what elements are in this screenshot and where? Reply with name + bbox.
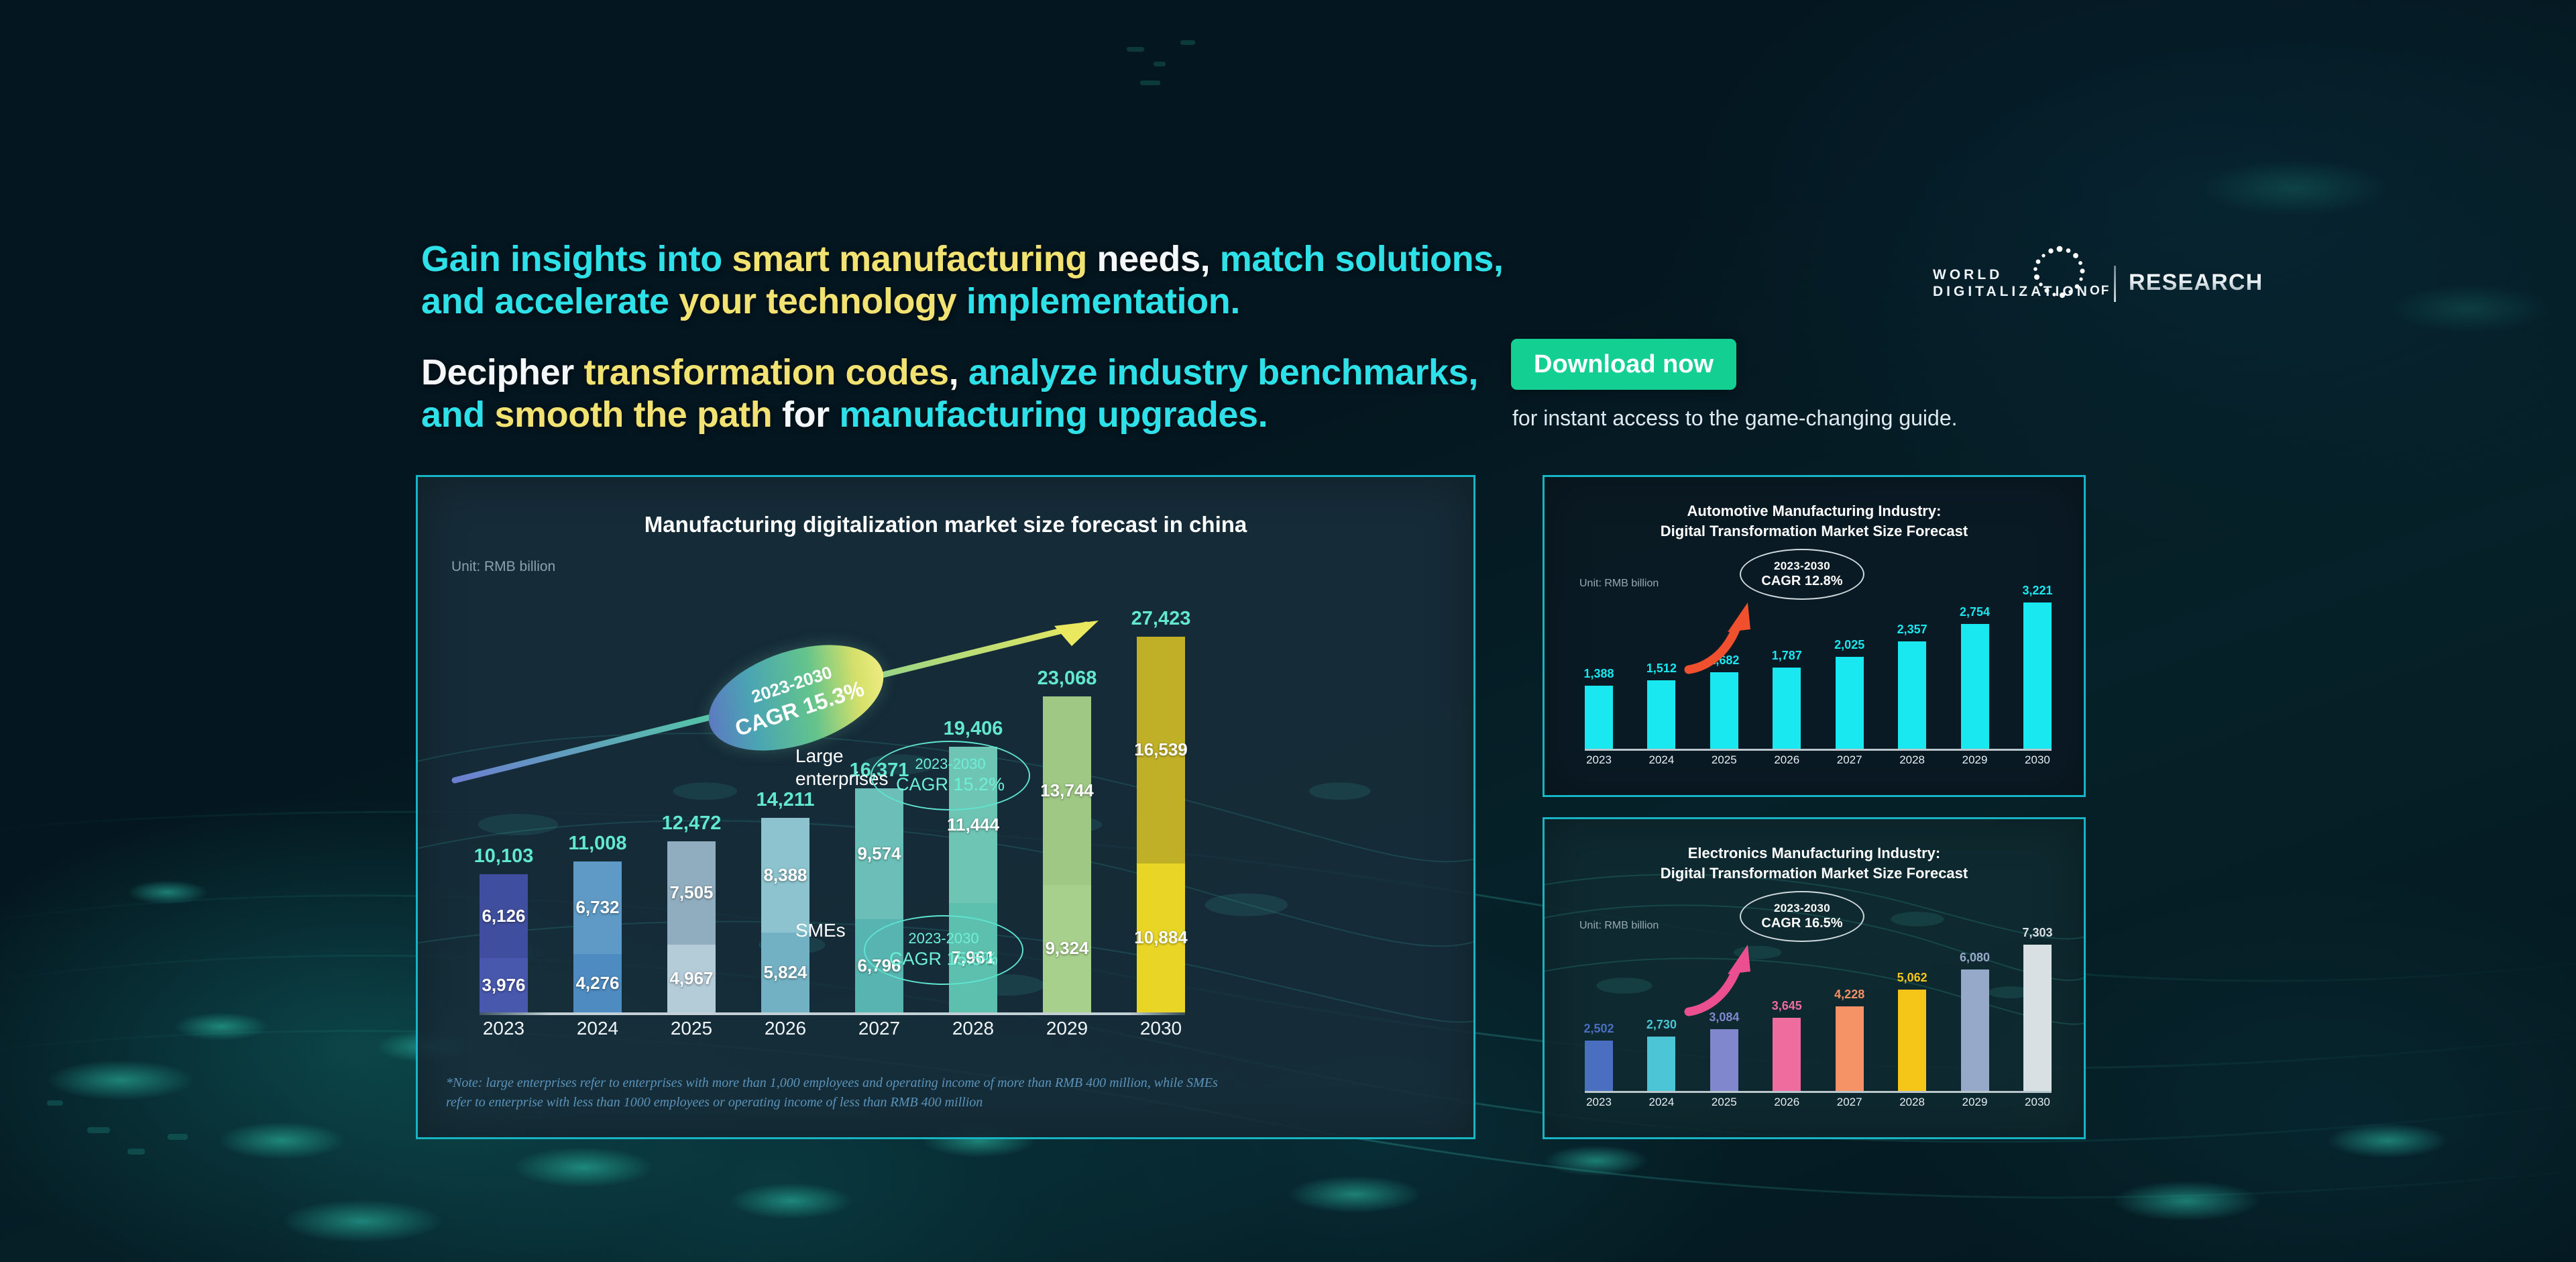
x-axis-label: 2023 [1585, 1096, 1613, 1120]
electronics-cagr-period: 2023-2030 [1774, 901, 1830, 915]
bar-column: 1,388 [1585, 686, 1613, 749]
headline-run: analyze industry benchmarks, [968, 352, 1478, 392]
cagr-pill-smes: 2023-2030 CAGR 15.5% [864, 915, 1023, 985]
bar-segment-large-enterprises: 9,574 [855, 788, 903, 920]
bar [1961, 969, 1989, 1091]
bar-group: 23,06813,7449,324 [1043, 696, 1091, 1012]
headline-run: smart manufacturing [732, 239, 1087, 279]
bar-segment-smes: 9,324 [1043, 885, 1091, 1012]
legend-smes: SMEs [795, 919, 846, 942]
x-axis-label: 2029 [1961, 753, 1989, 778]
main-chart-title: Manufacturing digitalization market size… [418, 512, 1473, 537]
automotive-cagr-period: 2023-2030 [1774, 559, 1830, 573]
bar [1710, 672, 1738, 749]
logo-wordmark: WORLD DIGITALIZATION [1933, 267, 2090, 301]
logo-word-research: RESEARCH [2129, 270, 2263, 296]
bar-group: 11,0086,7324,276 [573, 861, 622, 1012]
bar [1647, 680, 1675, 749]
bar-segment-label: 4,276 [575, 973, 619, 994]
electronics-plot: 2,5022,7303,0843,6454,2285,0626,0807,303… [1578, 927, 2054, 1121]
bar-segment-smes: 4,967 [667, 945, 716, 1012]
cagr-pill-large-enterprises: 2023-2030 CAGR 15.2% [871, 741, 1030, 810]
x-axis-label: 2028 [1898, 753, 1926, 778]
x-axis-label: 2030 [2023, 753, 2052, 778]
bar-segment-large-enterprises: 8,388 [761, 818, 809, 933]
pill-large-period: 2023-2030 [915, 755, 985, 774]
logo-word-world: WORLD [1933, 267, 2090, 284]
x-axis-label: 2027 [1836, 1096, 1864, 1120]
x-axis-label: 2023 [480, 1018, 528, 1047]
headline-run: manufacturing upgrades. [839, 395, 1268, 435]
bar-total-label: 10,103 [474, 845, 534, 867]
headline-run: transformation codes [584, 352, 949, 392]
headline-block: Gain insights into smart manufacturing n… [421, 238, 1521, 436]
bar [2023, 945, 2052, 1091]
bar-segment-label: 16,539 [1134, 739, 1188, 760]
bar-segment-label: 7,505 [669, 882, 713, 903]
bar-total-label: 19,406 [944, 718, 1003, 740]
electronics-title-line1: Electronics Manufacturing Industry: [1545, 843, 2084, 863]
pill-large-value: CAGR 15.2% [896, 774, 1005, 796]
bar-segment-large-enterprises: 7,505 [667, 841, 716, 944]
bar [1898, 641, 1926, 749]
electronics-x-axis [1585, 1091, 2052, 1093]
headline-run: for [772, 395, 839, 435]
x-axis-label: 2026 [1773, 1096, 1801, 1120]
bar-group: 27,42316,53910,884 [1137, 637, 1185, 1012]
bar-segment-large-enterprises: 6,732 [573, 861, 622, 953]
bar-group: 10,1036,1263,976 [480, 874, 528, 1012]
electronics-bar-group: 2,5022,7303,0843,6454,2285,0626,0807,303 [1585, 945, 2052, 1091]
headline-run: and accelerate [421, 281, 679, 321]
x-axis-label: 2024 [1647, 1096, 1675, 1120]
bar-column: 6,080 [1961, 969, 1989, 1091]
bar-group: 14,2118,3885,824 [761, 818, 809, 1012]
download-now-button[interactable]: Download now [1511, 339, 1736, 390]
automotive-cagr-pill: 2023-2030 CAGR 12.8% [1740, 549, 1864, 600]
bar [1710, 1029, 1738, 1091]
bar-column: 1,787 [1773, 668, 1801, 749]
bar-segment-label: 6,732 [575, 897, 619, 918]
bar-value-label: 1,388 [1583, 667, 1614, 681]
headline-run: implementation. [956, 281, 1240, 321]
headline-run: your technology [679, 281, 956, 321]
bar-total-label: 23,068 [1038, 668, 1097, 690]
bar [1836, 1006, 1864, 1091]
automotive-cagr-value: CAGR 12.8% [1761, 573, 1842, 590]
bar-segment-label: 9,574 [857, 843, 901, 864]
bar-total-label: 11,008 [568, 833, 626, 855]
headline-run: Decipher [421, 352, 584, 392]
automotive-x-axis [1585, 749, 2052, 751]
automotive-plot: 1,3881,5121,6821,7872,0252,3572,7543,221… [1578, 584, 2054, 779]
logo-word-digitalization: DIGITALIZATION [1933, 284, 2090, 301]
bar-column: 3,221 [2023, 602, 2052, 749]
bar-value-label: 3,221 [2022, 584, 2052, 598]
bar-group: 16,3719,5746,796 [855, 788, 903, 1012]
bar-segment-large-enterprises: 6,126 [480, 874, 528, 958]
bar [1836, 657, 1864, 749]
bar-column: 3,645 [1773, 1018, 1801, 1091]
automotive-title-line2: Digital Transformation Market Size Forec… [1545, 521, 2084, 541]
main-chart-unit: Unit: RMB billion [451, 559, 555, 575]
headline-run: needs, [1087, 239, 1220, 279]
bar-segment-smes: 3,976 [480, 958, 528, 1012]
x-axis-label: 2029 [1961, 1096, 1989, 1120]
x-axis-label: 2027 [855, 1018, 903, 1047]
bar-segment-large-enterprises: 13,744 [1043, 696, 1091, 885]
x-axis-label: 2026 [1773, 753, 1801, 778]
bar-segment-smes: 10,884 [1137, 863, 1185, 1012]
bar-value-label: 2,502 [1583, 1022, 1614, 1036]
bar-total-label: 14,211 [756, 789, 814, 811]
cta-subtext: for instant access to the game-changing … [1512, 406, 1958, 431]
headline-run: Gain insights into [421, 239, 732, 279]
x-axis-label: 2025 [1710, 753, 1738, 778]
bar-value-label: 7,303 [2022, 926, 2052, 940]
bar-segment-label: 9,324 [1045, 938, 1088, 959]
x-axis-label: 2030 [1137, 1018, 1185, 1047]
bar [1961, 624, 1989, 749]
headline-line-3: Decipher transformation codes, analyze i… [421, 352, 1521, 394]
bar [1773, 668, 1801, 749]
bar-value-label: 2,730 [1646, 1018, 1677, 1032]
headline-run: match solutions, [1220, 239, 1504, 279]
automotive-bar-group: 1,3881,5121,6821,7872,0252,3572,7543,221 [1585, 602, 2052, 749]
electronics-chart-panel: Electronics Manufacturing Industry: Digi… [1543, 817, 2086, 1139]
bar-segment-smes: 5,824 [761, 933, 809, 1012]
bar-column: 2,730 [1647, 1037, 1675, 1091]
bar [2023, 602, 2052, 749]
bar [1898, 990, 1926, 1091]
pill-smes-value: CAGR 15.5% [889, 948, 998, 970]
x-axis-label: 2026 [761, 1018, 809, 1047]
bar-value-label: 3,084 [1709, 1010, 1739, 1024]
headline-line-2: and accelerate your technology implement… [421, 280, 1521, 323]
bar-total-label: 12,472 [662, 812, 722, 835]
x-axis-label: 2024 [573, 1018, 622, 1047]
bar-column: 2,025 [1836, 657, 1864, 749]
main-chart-footnote: *Note: large enterprises refer to enterp… [446, 1073, 1224, 1112]
bar-total-label: 27,423 [1131, 608, 1191, 630]
bar-segment-label: 5,824 [763, 962, 807, 983]
bar-segment-label: 10,884 [1134, 927, 1188, 948]
bar-column: 2,754 [1961, 624, 1989, 749]
bar-value-label: 1,787 [1772, 649, 1802, 663]
bar-value-label: 1,512 [1646, 662, 1677, 676]
bar-value-label: 4,228 [1834, 988, 1864, 1002]
headline-line-1: Gain insights into smart manufacturing n… [421, 238, 1521, 280]
x-axis-label: 2030 [2023, 1096, 2052, 1120]
x-axis-label: 2028 [949, 1018, 997, 1047]
logo-word-of: OF [2090, 284, 2110, 299]
headline-line-4: and smooth the path for manufacturing up… [421, 394, 1521, 436]
automotive-title-line1: Automotive Manufacturing Industry: [1545, 501, 2084, 521]
bar-segment-large-enterprises: 16,539 [1137, 637, 1185, 863]
bar-value-label: 2,357 [1897, 623, 1927, 637]
bar-group: 12,4727,5054,967 [667, 841, 716, 1012]
x-axis-label: 2025 [1710, 1096, 1738, 1120]
bar-column: 1,682 [1710, 672, 1738, 749]
headline-run: smooth the path [494, 395, 772, 435]
x-axis-line [480, 1012, 1185, 1015]
automotive-x-labels: 20232024202520262027202820292030 [1585, 753, 2052, 778]
bar-segment-label: 3,976 [482, 975, 525, 996]
bar-value-label: 1,682 [1709, 653, 1739, 668]
bar-value-label: 2,754 [1960, 605, 1990, 619]
bar-value-label: 3,645 [1772, 999, 1802, 1013]
x-axis-label: 2029 [1043, 1018, 1091, 1047]
bar-value-label: 6,080 [1960, 951, 1990, 965]
logo: WORLD DIGITALIZATION OF RESEARCH [1933, 247, 2215, 314]
bar-column: 3,084 [1710, 1029, 1738, 1091]
bar [1773, 1018, 1801, 1091]
bar-value-label: 5,062 [1897, 971, 1927, 985]
bar-column: 4,228 [1836, 1006, 1864, 1091]
bar-segment-label: 8,388 [763, 865, 807, 886]
bar-column: 1,512 [1647, 680, 1675, 749]
bar-segment-label: 4,967 [669, 968, 713, 989]
main-x-axis-labels: 20232024202520262027202820292030 [480, 1018, 1185, 1047]
logo-divider [2114, 266, 2116, 302]
bar-segment-smes: 4,276 [573, 954, 622, 1012]
bar-segment-label: 6,126 [482, 906, 525, 927]
bar-column: 2,502 [1585, 1041, 1613, 1091]
bar-value-label: 2,025 [1834, 638, 1864, 652]
bar [1585, 1041, 1613, 1091]
x-axis-label: 2025 [667, 1018, 716, 1047]
electronics-chart-title: Electronics Manufacturing Industry: Digi… [1545, 843, 2084, 883]
electronics-x-labels: 20232024202520262027202820292030 [1585, 1096, 2052, 1120]
automotive-chart-panel: Automotive Manufacturing Industry: Digit… [1543, 475, 2086, 797]
bar-segment-label: 13,744 [1040, 780, 1094, 801]
electronics-cagr-pill: 2023-2030 CAGR 16.5% [1740, 891, 1864, 942]
automotive-chart-title: Automotive Manufacturing Industry: Digit… [1545, 501, 2084, 541]
bar-column: 2,357 [1898, 641, 1926, 749]
bar [1585, 686, 1613, 749]
x-axis-label: 2027 [1836, 753, 1864, 778]
headline-run: and [421, 395, 494, 435]
electronics-cagr-value: CAGR 16.5% [1761, 915, 1842, 932]
bar-column: 5,062 [1898, 990, 1926, 1091]
pill-smes-period: 2023-2030 [908, 930, 978, 948]
x-axis-label: 2028 [1898, 1096, 1926, 1120]
electronics-title-line2: Digital Transformation Market Size Forec… [1545, 863, 2084, 884]
x-axis-label: 2023 [1585, 753, 1613, 778]
x-axis-label: 2024 [1647, 753, 1675, 778]
bar-segment-label: 11,444 [947, 814, 999, 835]
headline-run: , [949, 352, 968, 392]
bar [1647, 1037, 1675, 1091]
bar-column: 7,303 [2023, 945, 2052, 1091]
